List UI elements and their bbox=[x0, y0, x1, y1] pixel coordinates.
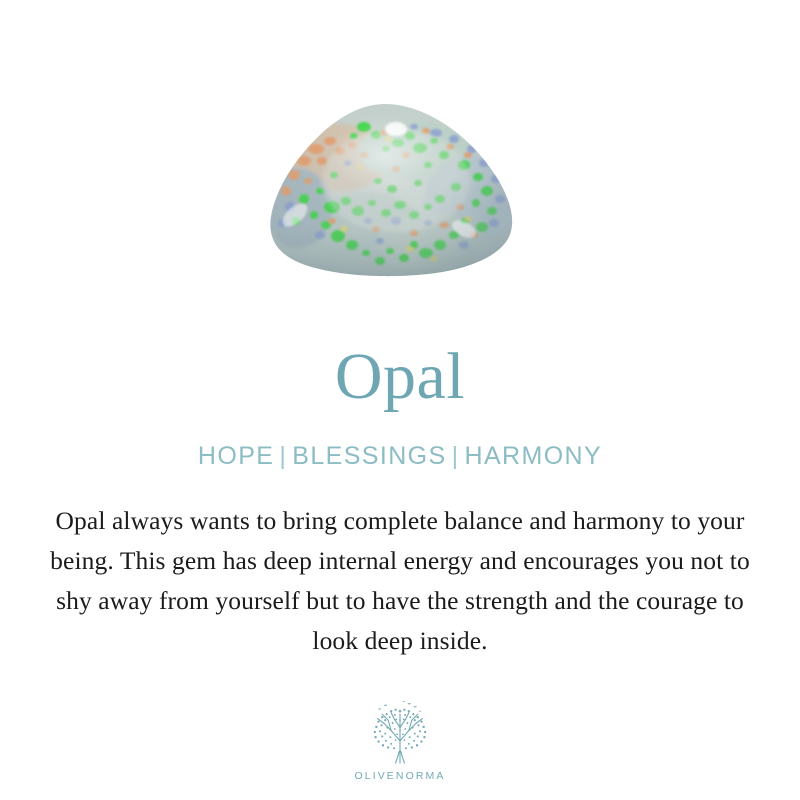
page-title: Opal bbox=[335, 300, 465, 410]
keyword-separator: | bbox=[274, 442, 292, 470]
opal-cabochon-image bbox=[268, 103, 518, 278]
gemstone-info-card: Opal HOPE|BLESSINGS|HARMONY Opal always … bbox=[0, 0, 800, 800]
opal-cabochon-graphic bbox=[268, 103, 518, 278]
brand-logo: OLIVENORMA bbox=[0, 695, 800, 782]
brand-wordmark: OLIVENORMA bbox=[354, 770, 445, 782]
tree-of-life-icon bbox=[363, 695, 437, 769]
keyword-harmony: HARMONY bbox=[465, 442, 603, 470]
keyword-hope: HOPE bbox=[198, 442, 274, 470]
keyword-blessings: BLESSINGS bbox=[292, 442, 446, 470]
description-text: Opal always wants to bring complete bala… bbox=[30, 471, 770, 661]
gemstone-image-area bbox=[0, 0, 800, 300]
keyword-separator: | bbox=[447, 442, 465, 470]
keyword-line: HOPE|BLESSINGS|HARMONY bbox=[198, 410, 602, 471]
